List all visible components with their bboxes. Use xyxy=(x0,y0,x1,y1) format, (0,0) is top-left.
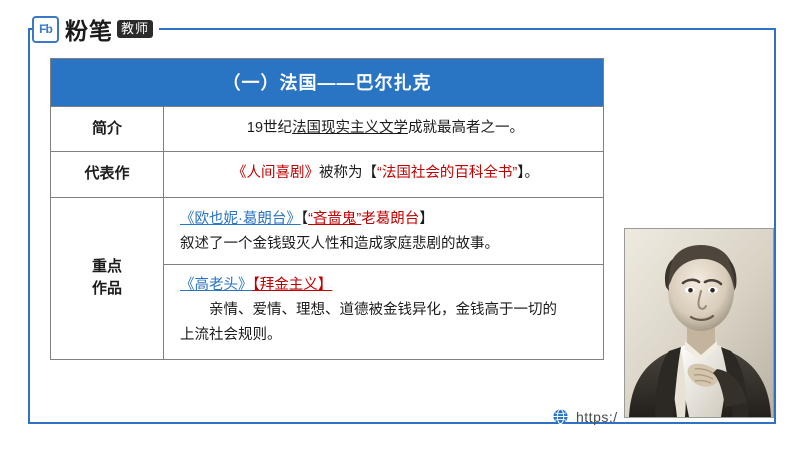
row-content-key-works: 《欧也妮·葛朗台》【“吝啬鬼”老葛朗台】 叙述了一个金钱毁灭人性和造成家庭悲剧的… xyxy=(164,198,603,359)
intro-text-part3: 成就最高者之一。 xyxy=(408,120,524,136)
work2-description-line1: 亲情、爱情、理想、道德被金钱异化，金钱高于一切的 xyxy=(180,298,591,323)
logo-badge: 教师 xyxy=(117,20,153,38)
work1-title: 《欧也妮·葛朗台》 xyxy=(180,211,301,227)
row-label-masterpiece: 代表作 xyxy=(51,152,164,196)
work2-title-line: 《高老头》【拜金主义】 xyxy=(180,273,591,298)
work2-title: 《高老头》 xyxy=(180,277,253,293)
content-table: （一）法国——巴尔扎克 简介 19世纪法国现实主义文学成就最高者之一。 代表作 … xyxy=(50,58,604,360)
key-works-label-line1: 重点 xyxy=(92,256,122,279)
table-row: 重点 作品 《欧也妮·葛朗台》【“吝啬鬼”老葛朗台】 叙述了一个金钱毁灭人性和造… xyxy=(51,197,603,359)
work2-theme: 【拜金主义】 xyxy=(253,277,333,293)
portrait-illustration xyxy=(625,229,773,417)
work1-bracket-close: 】 xyxy=(419,211,434,227)
row-content-intro: 19世纪法国现实主义文学成就最高者之一。 xyxy=(164,107,603,151)
work1-nickname: “吝啬鬼” xyxy=(308,211,361,227)
work1-character: 老葛朗台 xyxy=(361,211,419,227)
footer-url-text: https:/ xyxy=(576,409,618,425)
row-label-intro: 简介 xyxy=(51,107,164,151)
frame-line-left xyxy=(28,28,30,424)
key-work-item-1: 《欧也妮·葛朗台》【“吝啬鬼”老葛朗台】 叙述了一个金钱毁灭人性和造成家庭悲剧的… xyxy=(180,207,591,264)
key-work-item-2: 《高老头》【拜金主义】 亲情、爱情、理想、道德被金钱异化，金钱高于一切的 上流社… xyxy=(180,265,591,349)
work1-bracket-open: 【 xyxy=(301,211,308,227)
globe-icon xyxy=(552,408,569,425)
masterpiece-text-part4: 】。 xyxy=(517,165,539,181)
table-row: 简介 19世纪法国现实主义文学成就最高者之一。 xyxy=(51,106,603,151)
logo-brand-text: 粉笔 xyxy=(65,12,113,46)
work2-description-line2: 上流社会规则。 xyxy=(180,323,591,348)
key-works-label-line2: 作品 xyxy=(92,278,122,301)
masterpiece-title: 《人间喜剧》 xyxy=(232,165,319,181)
work1-title-line: 《欧也妮·葛朗台》【“吝啬鬼”老葛朗台】 xyxy=(180,207,591,232)
author-portrait xyxy=(624,228,774,418)
row-content-masterpiece: 《人间喜剧》被称为【“法国社会的百科全书”】。 xyxy=(164,152,603,196)
table-header-title: （一）法国——巴尔扎克 xyxy=(51,59,603,106)
footer-link[interactable]: https:/ xyxy=(552,408,618,425)
masterpiece-nickname: “法国社会的百科全书” xyxy=(377,165,517,181)
frame-line-bottom xyxy=(28,422,776,424)
brand-logo: Fb 粉笔 教师 xyxy=(32,14,159,44)
frame-line-right xyxy=(774,28,776,424)
row-label-key-works: 重点 作品 xyxy=(51,198,164,359)
intro-text-part1: 19世纪 xyxy=(247,120,292,136)
intro-text-highlight: 法国现实主义文学 xyxy=(292,120,408,136)
masterpiece-text-part2: 被称为【 xyxy=(319,165,377,181)
logo-mark-icon: Fb xyxy=(32,16,59,43)
table-row: 代表作 《人间喜剧》被称为【“法国社会的百科全书”】。 xyxy=(51,151,603,196)
work1-description: 叙述了一个金钱毁灭人性和造成家庭悲剧的故事。 xyxy=(180,232,591,257)
